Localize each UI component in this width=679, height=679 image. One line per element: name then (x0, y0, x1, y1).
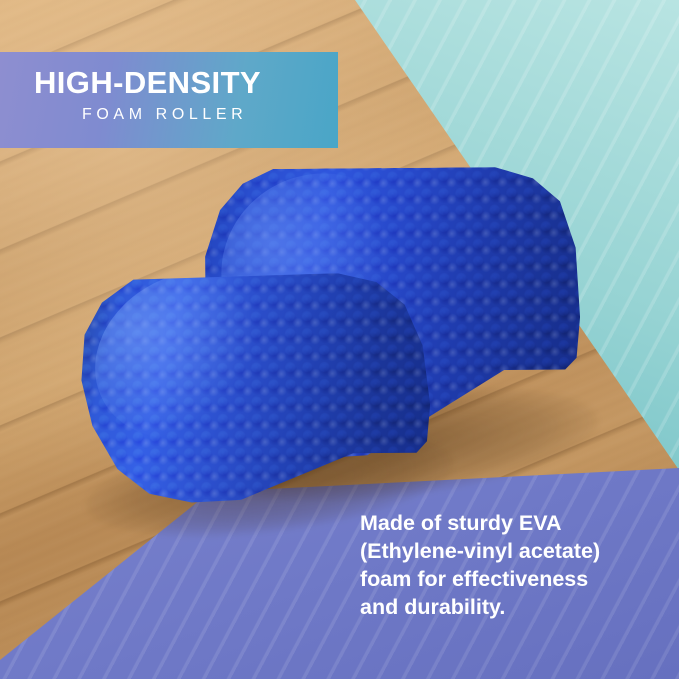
product-image: HIGH-DENSITY FOAM ROLLER Made of sturdy … (0, 0, 679, 679)
feature-caption: Made of sturdy EVA (Ethylene-vinyl aceta… (360, 510, 650, 622)
banner-title: HIGH-DENSITY (34, 66, 338, 99)
foam-roller-front (77, 272, 431, 503)
banner-subtitle: FOAM ROLLER (34, 106, 338, 124)
title-banner: HIGH-DENSITY FOAM ROLLER (0, 52, 338, 148)
foam-roller-front-body (77, 272, 431, 503)
